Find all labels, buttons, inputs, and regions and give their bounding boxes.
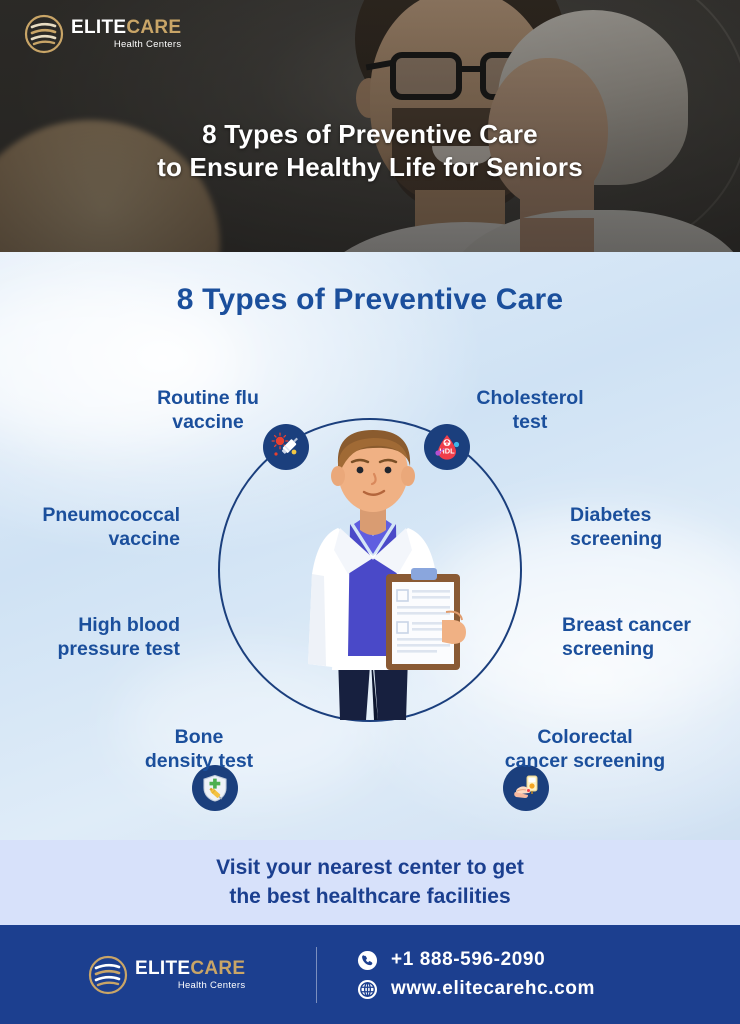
cta-band: Visit your nearest center to get the bes… [0, 840, 740, 925]
main-section: 8 Types of Preventive Care [0, 252, 740, 840]
shield-syringe-icon [200, 773, 230, 803]
label-diabetes-screening: Diabetes screening [570, 504, 740, 552]
logo-name-elite: ELITE [71, 17, 126, 38]
footer-website-url: www.elitecarehc.com [391, 978, 595, 1000]
glucose-finger-prick-icon [511, 773, 541, 803]
label-colorectal-cancer-screening: Colorectal cancer screening [470, 726, 700, 774]
label-bone-density-test: Bone density test [108, 726, 290, 774]
footer-logo-tagline: Health Centers [135, 981, 245, 991]
page-title: 8 Types of Preventive Care [0, 283, 740, 317]
globe-icon [357, 979, 378, 1000]
logo-tagline: Health Centers [71, 40, 181, 50]
label-breast-cancer-screening: Breast cancer screening [562, 614, 740, 662]
phone-icon [357, 950, 378, 971]
footer-divider [316, 947, 317, 1003]
elitecare-logo-icon [24, 14, 64, 54]
cta-text: Visit your nearest center to get the bes… [216, 854, 524, 911]
label-high-blood-pressure-test: High blood pressure test [8, 614, 180, 662]
label-routine-flu-vaccine: Routine flu vaccine [118, 387, 298, 435]
footer-phone-number: +1 888-596-2090 [391, 949, 545, 971]
footer-contact-group: +1 888-596-2090 www.elitecarehc.com [357, 949, 595, 1000]
hero-banner: ELITECARE Health Centers 8 Types of Prev… [0, 0, 740, 252]
hdl-blood-drop-icon: HDL [432, 432, 462, 462]
elitecare-logo-icon [88, 955, 128, 995]
footer-bar: ELITECARE Health Centers +1 888-596-2090 [0, 925, 740, 1024]
footer-logo-name-elite: ELITE [135, 958, 190, 979]
hero-title: 8 Types of Preventive Care to Ensure Hea… [0, 118, 740, 185]
label-pneumococcal-vaccine: Pneumococcal vaccine [8, 504, 180, 552]
infographic-poster: ELITECARE Health Centers 8 Types of Prev… [0, 0, 740, 1024]
syringe-virus-icon [271, 432, 301, 462]
footer-logo[interactable]: ELITECARE Health Centers [88, 955, 288, 995]
header-logo[interactable]: ELITECARE Health Centers [24, 14, 164, 60]
logo-name-care: CARE [126, 17, 181, 38]
footer-website-row[interactable]: www.elitecarehc.com [357, 978, 595, 1000]
footer-logo-name-care: CARE [190, 958, 245, 979]
footer-phone-row[interactable]: +1 888-596-2090 [357, 949, 595, 971]
label-cholesterol-test: Cholesterol test [440, 387, 620, 435]
